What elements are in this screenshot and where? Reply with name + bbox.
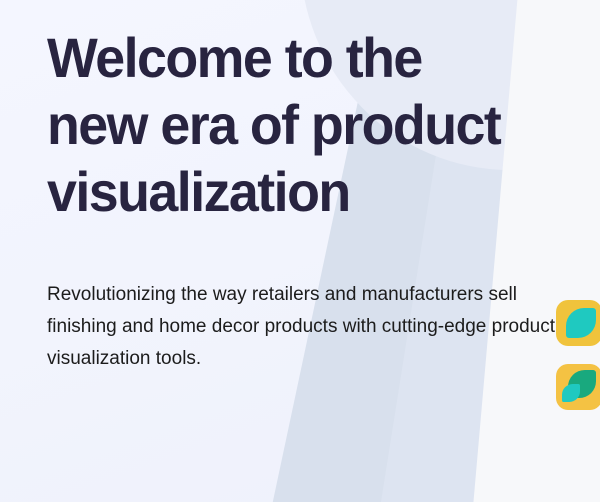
- hero-section: Welcome to the new era of product visual…: [0, 0, 600, 502]
- page-title: Welcome to the new era of product visual…: [47, 24, 527, 225]
- hero-content: Welcome to the new era of product visual…: [0, 0, 600, 502]
- hero-subcopy: Revolutionizing the way retailers and ma…: [47, 225, 577, 375]
